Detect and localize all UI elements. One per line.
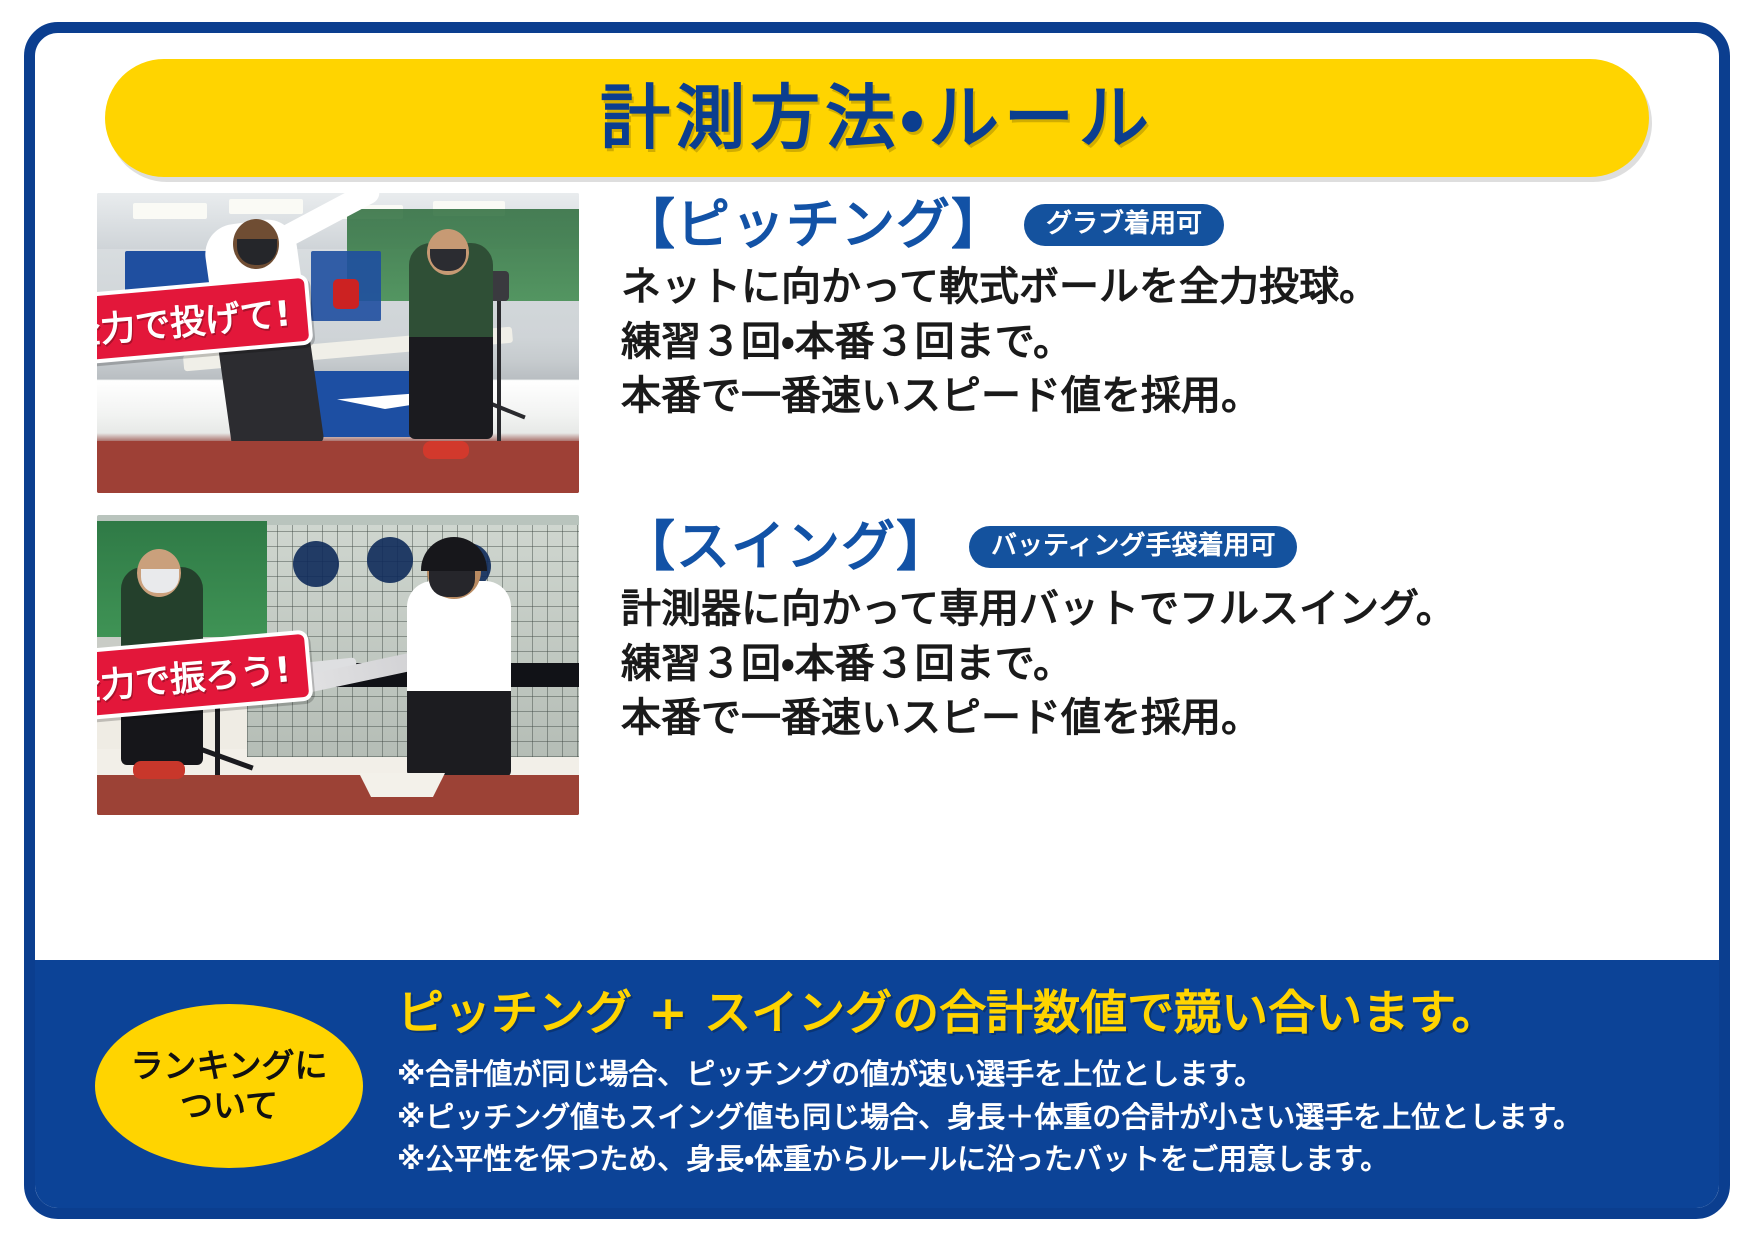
home-plate-marking [359,773,445,797]
ceiling-lamp-icon [133,203,207,219]
swing-text-column: 【スイング】 バッティング手袋着用可 計測器に向かって専用バットでフルスイング。… [621,515,1657,746]
ranking-note-1: ※合計値が同じ場合、ピッチングの値が速い選手を上位とします。 [397,1053,1659,1095]
ranking-headline: ピッチング + スイングの合計数値で競い合います。 [397,986,1659,1041]
swing-rule-line-2: 練習３回・本番３回まで。 [621,637,1657,691]
title-pill: 計測方法・ルール [105,59,1649,177]
pitching-text-column: 【ピッチング】 グラブ着用可 ネットに向かって軟式ボールを全力投球。 練習３回・… [621,193,1657,424]
pitching-rule-line-3: 本番で一番速いスピード値を採用。 [621,369,1657,423]
pitching-badge: グラブ着用可 [1024,204,1224,246]
pitching-rule-line-1: ネットに向かって軟式ボールを全力投球。 [621,260,1657,314]
photo-pitching: 全力で投げて! [97,193,579,493]
swing-heading: 【スイング】 [621,517,951,576]
coach-shoe [133,761,185,779]
pitching-heading-row: 【ピッチング】 グラブ着用可 [621,195,1657,254]
section-swing: 全力で振ろう! 【スイング】 バッティング手袋着用可 計測器に向かって専用バット… [97,515,1657,815]
swing-rule-line-3: 本番で一番速いスピード値を採用。 [621,691,1657,745]
poster-root: 計測方法・ルール [0,0,1754,1241]
pitching-rule-line-2: 練習３回・本番３回まで。 [621,315,1657,369]
camera-tripod [497,293,501,443]
gym-floor [97,775,579,815]
swing-rule-line-1: 計測器に向かって専用バットでフルスイング。 [621,582,1657,636]
ceiling-lamp-icon [229,199,303,214]
photo-swing: 全力で振ろう! [97,515,579,815]
face-mask-icon [429,571,475,597]
ranking-badge-line2: ついて [180,1086,278,1126]
ranking-badge: ランキングに ついて [95,1004,363,1168]
pitching-heading: 【ピッチング】 [621,195,1006,254]
poster-frame: 計測方法・ルール [24,22,1730,1219]
rules-body: 全力で投げて! 【ピッチング】 グラブ着用可 ネットに向かって軟式ボールを全力投… [35,183,1719,946]
title-section: 計測方法・ルール [35,33,1719,183]
ranking-note-2: ※ピッチング値もスイング値も同じ場合、身長＋体重の合計が小さい選手を上位とします… [397,1096,1659,1138]
ranking-footer: ランキングに ついて ピッチング + スイングの合計数値で競い合います。 ※合計… [35,960,1719,1208]
section-pitching: 全力で投げて! 【ピッチング】 グラブ着用可 ネットに向かって軟式ボールを全力投… [97,193,1657,493]
swing-heading-row: 【スイング】 バッティング手袋着用可 [621,517,1657,576]
running-pictogram-icon [293,541,339,587]
gym-floor [97,441,579,493]
ranking-text-column: ピッチング + スイングの合計数値で競い合います。 ※合計値が同じ場合、ピッチン… [397,982,1659,1180]
page-title: 計測方法・ルール [600,83,1154,153]
red-signal-light-icon [333,279,359,309]
swing-badge: バッティング手袋着用可 [969,526,1297,568]
staff-shoe [423,441,469,459]
gym-pictogram-icon [367,537,413,583]
ranking-badge-line1: ランキングに [130,1046,327,1086]
ranking-note-3: ※公平性を保つため、身長・体重からルールに沿ったバットをご用意します。 [397,1138,1659,1180]
batter-figure [407,581,511,777]
